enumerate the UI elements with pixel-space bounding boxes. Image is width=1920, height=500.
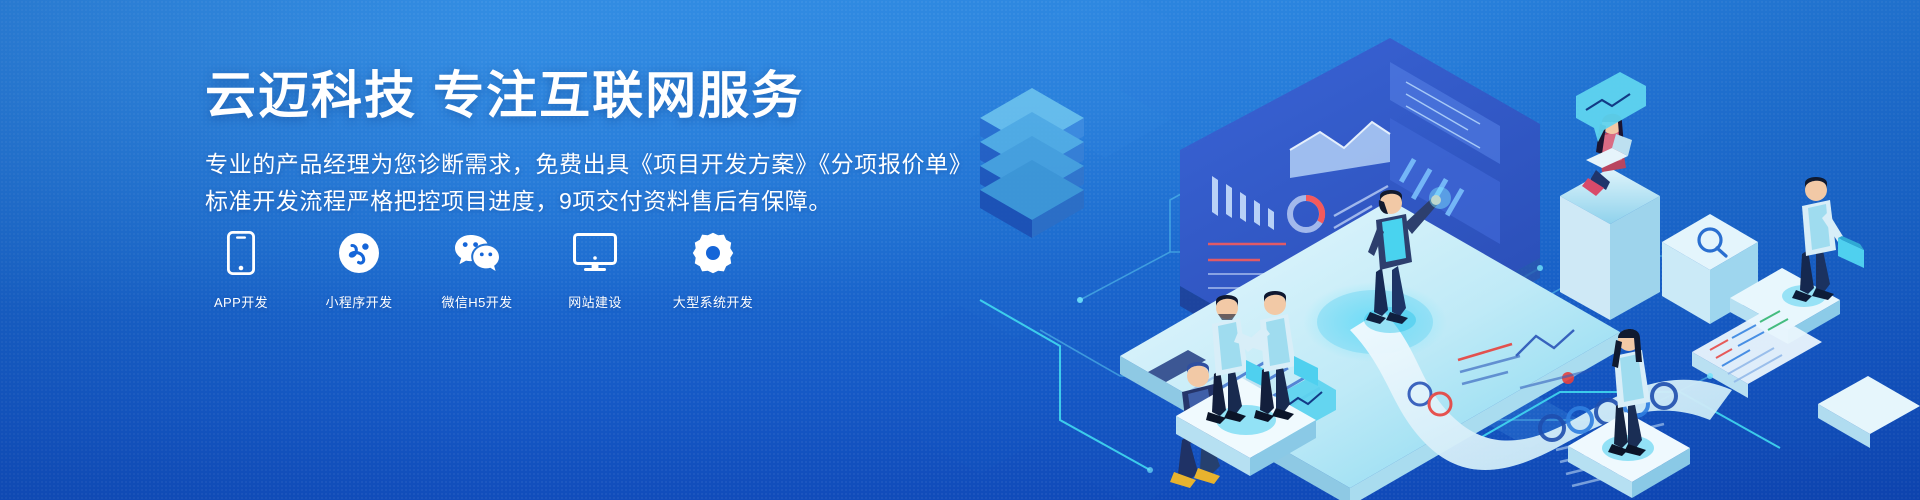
service-label-wechat-h5: 微信H5开发 [441,292,512,311]
service-item-wechat-h5[interactable]: 微信H5开发 [441,230,513,311]
hero-illustration [920,0,1920,500]
service-item-app[interactable]: APP开发 [205,230,277,311]
page-title: 云迈科技 专注互联网服务 [205,68,925,124]
pedestal-tall [1560,168,1660,320]
service-item-mini-program[interactable]: 小程序开发 [323,230,395,311]
service-label-app: APP开发 [214,292,268,311]
service-item-large-system[interactable]: 大型系统开发 [677,230,749,311]
service-label-large-system: 大型系统开发 [673,292,753,311]
server-stack-icon [980,88,1084,238]
service-label-website: 网站建设 [568,292,622,311]
subtitle-line-2: 标准开发流程严格把控项目进度，9项交付资料售后有保障。 [205,183,925,220]
gear-icon [690,230,736,276]
hero-copy: 云迈科技 专注互联网服务 专业的产品经理为您诊断需求，免费出具《项目开发方案》《… [205,68,925,221]
service-list: APP开发 小程序开发 [205,230,749,311]
service-label-mini-program: 小程序开发 [325,292,392,311]
mini-program-icon [336,230,382,276]
monitor-icon [572,230,618,276]
person-businessman-briefcase [1792,177,1864,302]
mobile-phone-icon [218,230,264,276]
wechat-icon [454,230,500,276]
service-item-website[interactable]: 网站建设 [559,230,631,311]
hero-banner: 云迈科技 专注互联网服务 专业的产品经理为您诊断需求，免费出具《项目开发方案》《… [0,0,1920,500]
hero-subtitle: 专业的产品经理为您诊断需求，免费出具《项目开发方案》《分项报价单》 标准开发流程… [205,146,925,221]
subtitle-line-1: 专业的产品经理为您诊断需求，免费出具《项目开发方案》《分项报价单》 [205,146,925,183]
